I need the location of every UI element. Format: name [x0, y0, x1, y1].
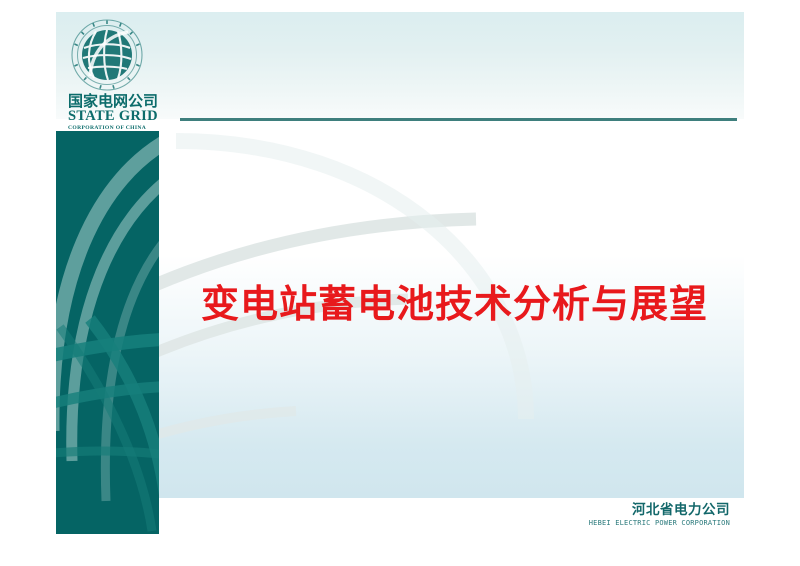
logo-name-cn: 国家电网公司 [68, 93, 176, 109]
sidebar-decor-panel [56, 131, 159, 534]
state-grid-globe-icon [70, 18, 144, 92]
state-grid-logo: 国家电网公司 STATE GRID CORPORATION OF CHINA [64, 18, 176, 132]
logo-name-sub: CORPORATION OF CHINA [68, 124, 176, 132]
header-divider-rule [180, 118, 737, 121]
presentation-slide: 国家电网公司 STATE GRID CORPORATION OF CHINA 变… [56, 12, 744, 534]
slide-title: 变电站蓄电池技术分析与展望 [201, 280, 721, 328]
footer-org-cn: 河北省电力公司 [589, 502, 730, 518]
logo-name-en: STATE GRID [68, 109, 176, 124]
sidebar-arcs-icon [56, 131, 159, 534]
footer-org-en: HEBEI ELECTRIC POWER CORPORATION [589, 518, 730, 528]
slide-footer: 河北省电力公司 HEBEI ELECTRIC POWER CORPORATION [589, 502, 730, 528]
